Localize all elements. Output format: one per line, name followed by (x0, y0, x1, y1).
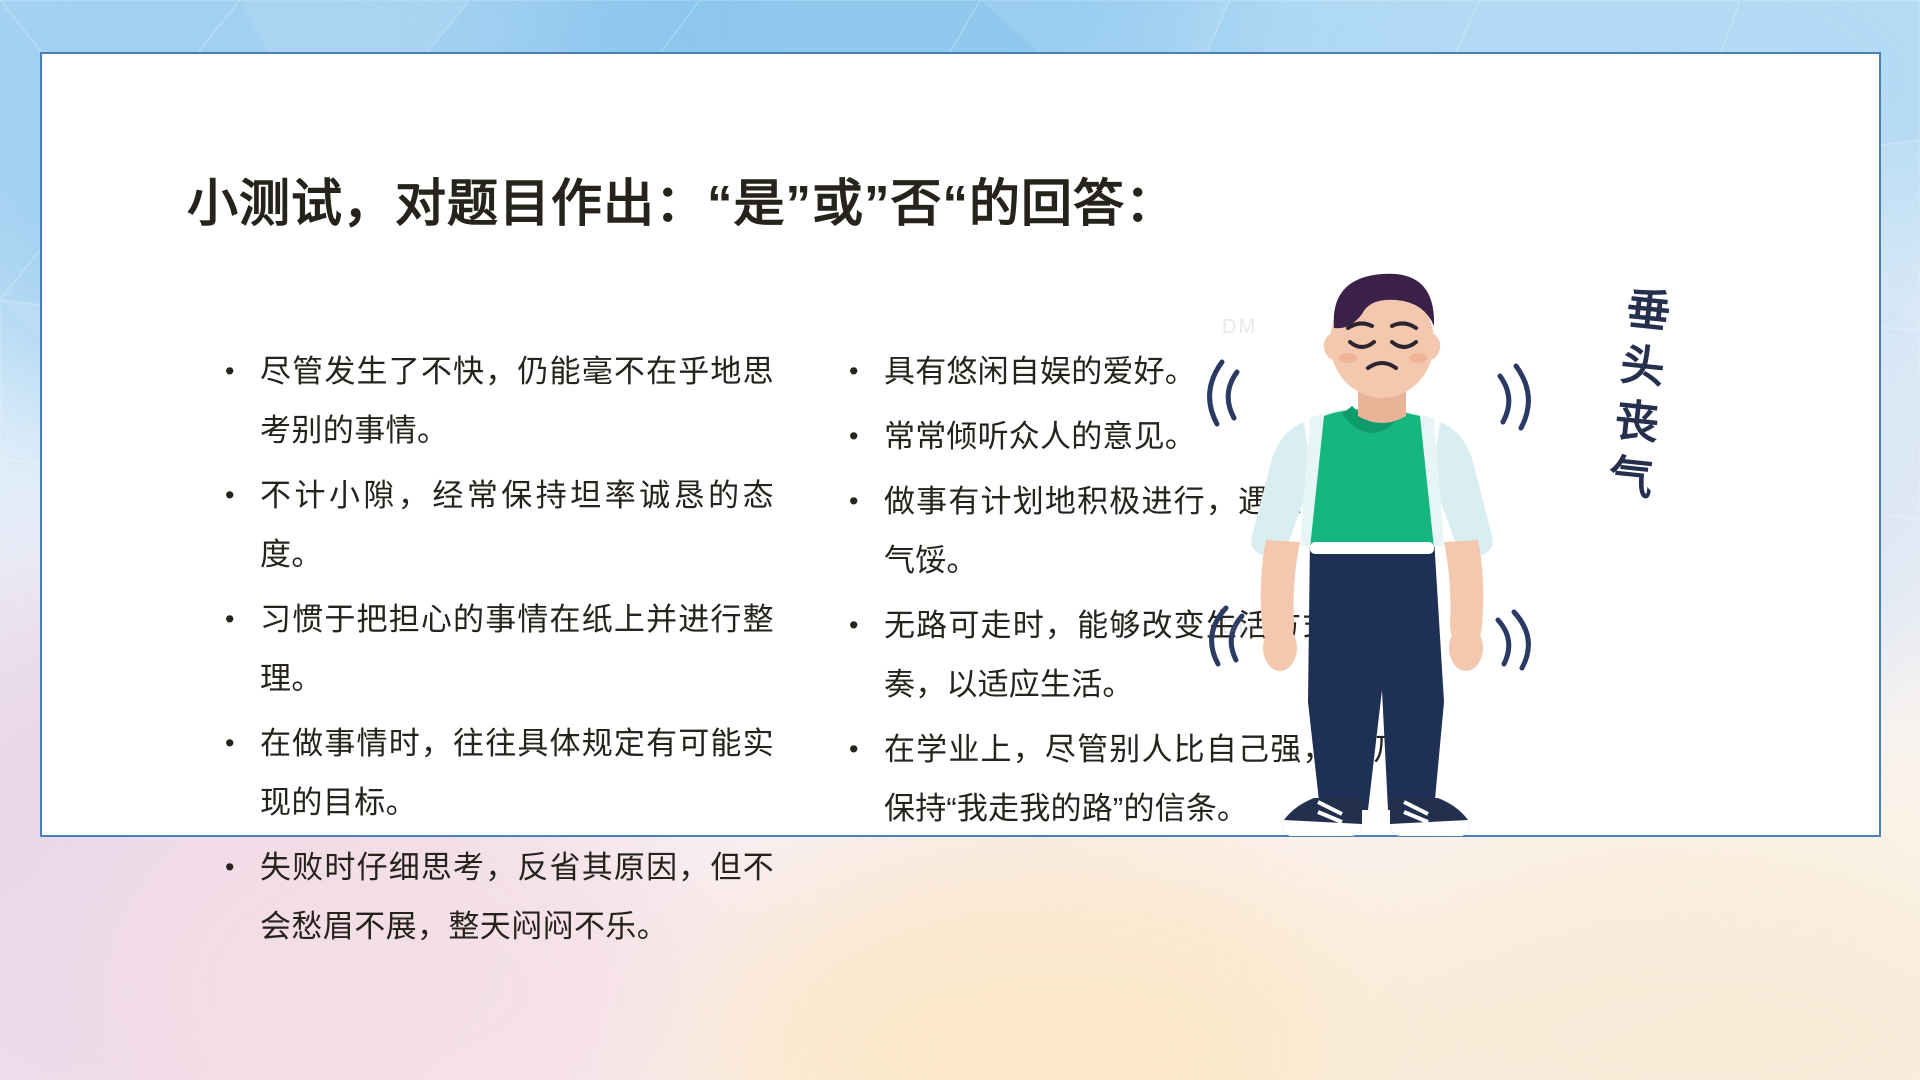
bullet-dot-icon: • (218, 342, 260, 401)
list-item-text: 失败时仔细思考，反省其原因，但不会愁眉不展，整天闷闷不乐。 (260, 838, 774, 956)
bullet-column-left: • 尽管发生了不快，仍能毫不在乎地思考别的事情。 • 不计小隙，经常保持坦率诚恳… (218, 342, 774, 962)
bullet-dot-icon: • (842, 407, 884, 466)
list-item[interactable]: • 不计小隙，经常保持坦率诚恳的态度。 (218, 466, 774, 584)
hand-left (1263, 625, 1297, 671)
cheek-left (1339, 353, 1357, 363)
page-title: 小测试，对题目作出：“是”或”否“的回答： (187, 162, 1177, 236)
list-item[interactable]: • 习惯于把担心的事情在纸上并进行整理。 (218, 590, 774, 708)
illustration-caption: 垂头丧气 (1583, 282, 1678, 512)
bullet-dot-icon: • (842, 342, 884, 401)
list-item[interactable]: • 尽管发生了不快，仍能毫不在乎地思考别的事情。 (218, 342, 774, 460)
list-item-text: 在做事情时，往往具体规定有可能实现的目标。 (260, 714, 774, 832)
bullet-dot-icon: • (218, 714, 260, 773)
vest-hem (1310, 542, 1434, 554)
bullet-dot-icon: • (218, 590, 260, 649)
list-item-text: 不计小隙，经常保持坦率诚恳的态度。 (260, 466, 774, 584)
bullet-dot-icon: • (218, 466, 260, 525)
list-item[interactable]: • 失败时仔细思考，反省其原因，但不会愁眉不展，整天闷闷不乐。 (218, 838, 774, 956)
list-item[interactable]: • 在做事情时，往往具体规定有可能实现的目标。 (218, 714, 774, 832)
pants (1308, 538, 1444, 810)
shoe-right (1390, 798, 1470, 836)
cheek-right (1409, 353, 1427, 363)
bullet-dot-icon: • (842, 596, 884, 655)
bullet-dot-icon: • (218, 838, 260, 897)
sad-boy-illustration (1182, 250, 1582, 850)
slide-card: 小测试，对题目作出：“是”或”否“的回答： • 尽管发生了不快，仍能毫不在乎地思… (40, 52, 1881, 837)
motion-lines-right (1498, 366, 1528, 668)
motion-lines-left (1210, 362, 1242, 664)
bullet-dot-icon: • (842, 720, 884, 779)
shoe-left (1282, 798, 1362, 836)
bullet-dot-icon: • (842, 472, 884, 531)
hand-right (1449, 625, 1483, 671)
list-item-text: 习惯于把担心的事情在纸上并进行整理。 (260, 590, 774, 708)
list-item-text: 尽管发生了不快，仍能毫不在乎地思考别的事情。 (260, 342, 774, 460)
